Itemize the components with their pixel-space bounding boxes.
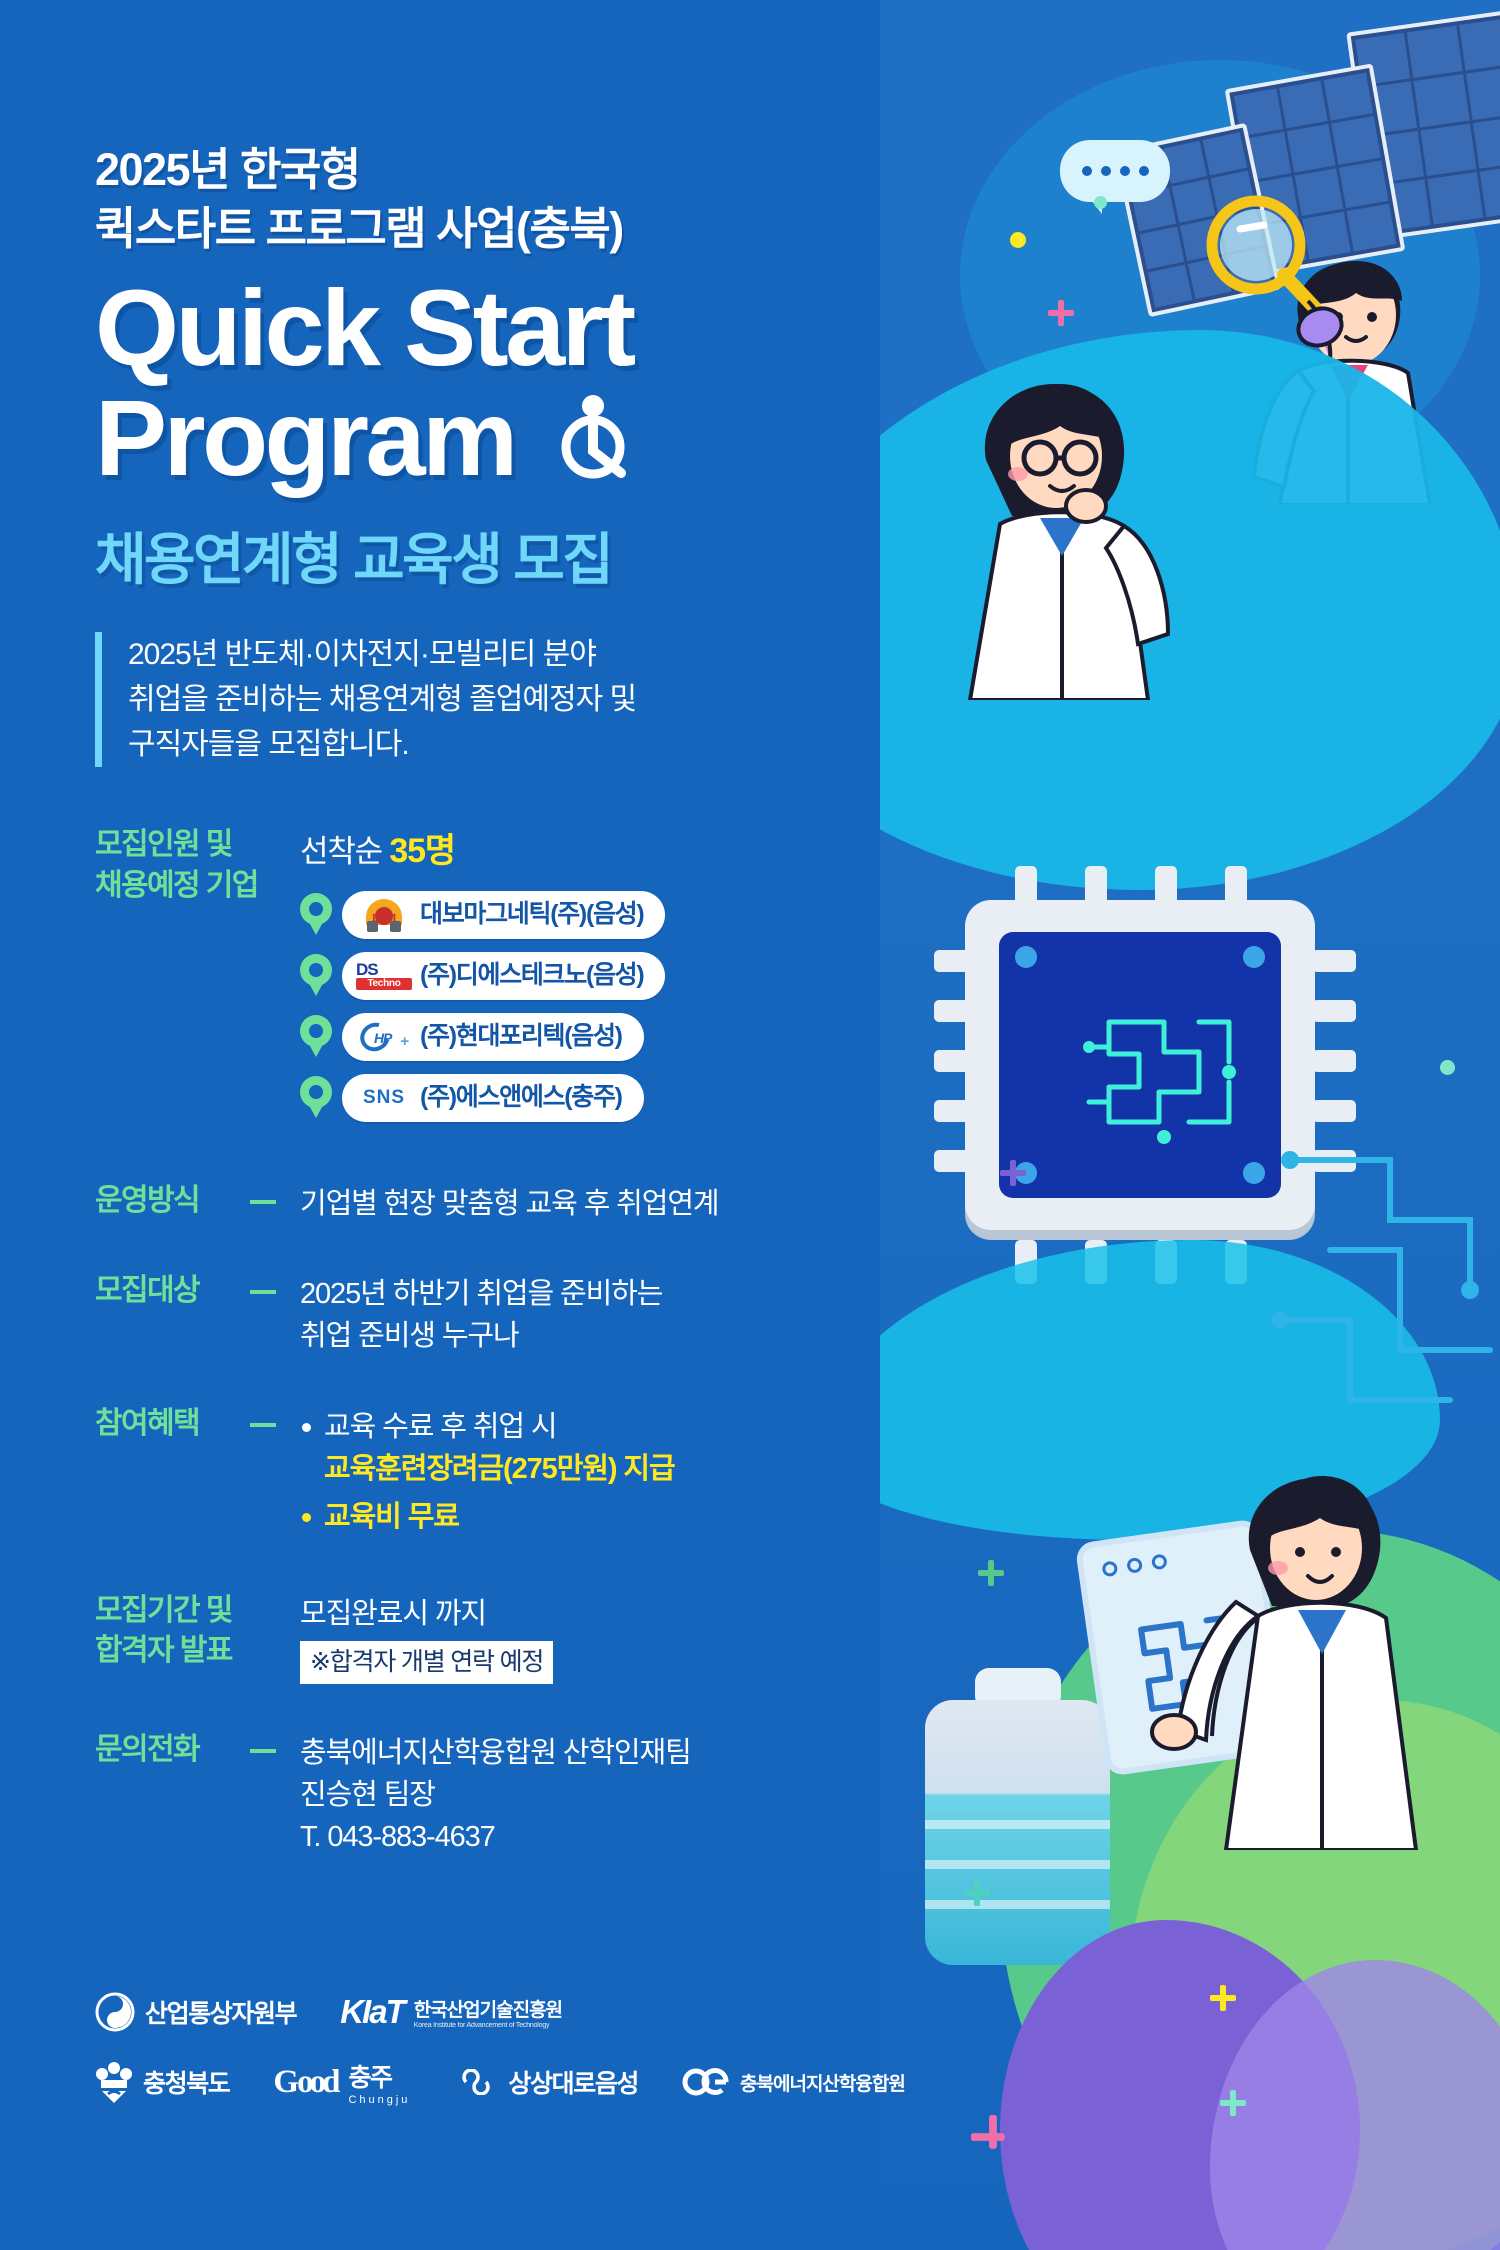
illustration-panel <box>880 0 1500 2250</box>
map-pin-icon <box>300 893 332 937</box>
footer-logo-row-1: 산업통상자원부 KIaT 한국산업기술진흥원 Korea Institute f… <box>95 1992 795 2032</box>
row-body-method: 기업별 현장 맞춤형 교육 후 취업연계 <box>300 1181 900 1225</box>
period-note-badge: ※합격자 개별 연락 예정 <box>300 1641 553 1684</box>
accessibility-wheelchair-icon <box>547 389 639 481</box>
contact-line-2: 진승현 팀장 <box>300 1774 900 1816</box>
contact-line-1: 충북에너지산학융합원 산학인재팀 <box>300 1732 900 1774</box>
row-body-period: 모집완료시 까지 ※합격자 개별 연락 예정 <box>300 1591 900 1684</box>
poster-lede: 2025년 반도체·이차전지·모빌리티 분야 취업을 준비하는 채용연계형 졸업… <box>95 632 900 767</box>
plus-decor-icon <box>1210 1985 1236 2011</box>
person-researcher-thinking <box>900 340 1230 700</box>
row-label-contact: 문의전화 <box>95 1730 300 1859</box>
company-pill: SNS (주)에스앤에스(충주) <box>342 1074 644 1122</box>
plus-decor-icon <box>964 1880 990 1906</box>
chungbuk-flower-icon <box>95 2060 133 2104</box>
company-name: (주)디에스테크노(음성) <box>420 957 643 994</box>
sns-logo-icon: SNS <box>356 1081 412 1115</box>
recruit-count-value: 35명 <box>389 832 455 870</box>
company-pill: DSTechno (주)디에스테크노(음성) <box>342 952 665 1000</box>
plus-decor-icon <box>1000 1160 1026 1186</box>
logo-kiat: KIaT 한국산업기술진흥원 Korea Institute for Advan… <box>340 1993 562 2031</box>
company-pill: DBM 대보마그네틱(주)(음성) <box>342 891 665 939</box>
plus-decor-icon <box>978 1560 1004 1586</box>
title-line-2: Program <box>95 377 515 498</box>
poster-subtitle: 채용연계형 교육생 모집 <box>95 515 900 596</box>
target-line-2: 취업 준비생 누구나 <box>300 1315 900 1357</box>
circuit-trace-graphic <box>1250 1140 1500 1440</box>
company-name: (주)에스앤에스(충주) <box>420 1079 622 1116</box>
period-body: 모집완료시 까지 <box>300 1593 900 1635</box>
row-label-period: 모집기간 및 합격자 발표 <box>95 1591 300 1684</box>
kicker-line-1: 2025년 한국형 <box>95 140 900 199</box>
company-name: 대보마그네틱(주)(음성) <box>420 896 643 933</box>
benefits-list: 교육 수료 후 취업 시 교육훈련장려금(275만원) 지급 교육비 무료 <box>300 1406 900 1539</box>
contact-phone: T. 043-883-4637 <box>300 1816 900 1858</box>
target-line-1: 2025년 하반기 취업을 준비하는 <box>300 1273 900 1315</box>
row-label-recruit: 모집인원 및 채용예정 기업 <box>95 825 300 1135</box>
row-body-contact: 충북에너지산학융합원 산학인재팀 진승현 팀장 T. 043-883-4637 <box>300 1730 900 1859</box>
person-man-with-tablet <box>1130 1430 1470 1850</box>
eumseong-infinity-icon <box>454 2069 498 2095</box>
logo-chungbuk: 충청북도 <box>95 2060 229 2104</box>
info-row-recruit: 모집인원 및 채용예정 기업 선착순 35명 DBM 대보마그네틱(주)(음성) <box>95 825 900 1135</box>
benefit-1-highlight: 교육훈련장려금(275만원) 지급 <box>324 1453 675 1485</box>
logo-eumseong: 상상대로음성 <box>454 2064 638 2100</box>
logo-kiat-label: 한국산업기술진흥원 <box>414 2000 562 2021</box>
row-label-method: 운영방식 <box>95 1181 300 1225</box>
benefit-1-plain: 교육 수료 후 취업 시 <box>324 1411 556 1443</box>
content-column: 2025년 한국형 퀵스타트 프로그램 사업(충북) Quick Start P… <box>0 0 900 2250</box>
motie-taegeuk-icon <box>95 1992 135 2032</box>
info-row-method: 운영방식 기업별 현장 맞춤형 교육 후 취업연계 <box>95 1181 900 1225</box>
row-label-target: 모집대상 <box>95 1271 300 1358</box>
row-body-recruit: 선착순 35명 DBM 대보마그네틱(주)(음성) <box>300 825 900 1135</box>
lede-line-2: 취업을 준비하는 채용연계형 졸업예정자 및 <box>128 677 900 722</box>
info-row-benefits: 참여혜택 교육 수료 후 취업 시 교육훈련장려금(275만원) 지급 교육비 … <box>95 1404 900 1545</box>
plus-decor-icon <box>971 2115 1015 2159</box>
map-pin-icon <box>300 1015 332 1059</box>
footer-logo-row-2: 충청북도 Good 충주 Chungju <box>95 2058 795 2106</box>
lede-line-3: 구직자들을 모집합니다. <box>128 722 900 767</box>
battery-graphic <box>925 1700 1110 1965</box>
company-row: HP+ (주)현대포리텍(음성) <box>300 1013 900 1061</box>
info-rows: 모집인원 및 채용예정 기업 선착순 35명 DBM 대보마그네틱(주)(음성) <box>95 825 900 1858</box>
logo-chungbuk-label: 충청북도 <box>143 2064 229 2100</box>
plus-decor-icon <box>1048 300 1074 326</box>
kicker-line-2: 퀵스타트 프로그램 사업(충북) <box>95 199 900 258</box>
map-pin-icon <box>300 1076 332 1120</box>
recruit-count-prefix: 선착순 <box>300 834 389 869</box>
dot-decor <box>1094 196 1107 209</box>
dot-decor <box>1440 1060 1455 1075</box>
logo-good-chungju-label: 충주 <box>348 2064 391 2092</box>
info-row-period: 모집기간 및 합격자 발표 모집완료시 까지 ※합격자 개별 연락 예정 <box>95 1591 900 1684</box>
company-pill: HP+ (주)현대포리텍(음성) <box>342 1013 644 1061</box>
dot-decor <box>1010 232 1026 248</box>
info-row-contact: 문의전화 충북에너지산학융합원 산학인재팀 진승현 팀장 T. 043-883-… <box>95 1730 900 1859</box>
company-row: SNS (주)에스앤에스(충주) <box>300 1074 900 1122</box>
dbm-logo-icon: DBM <box>356 898 412 932</box>
benefit-item-2: 교육비 무료 <box>300 1496 900 1538</box>
good-chungju-logo-icon: Good <box>273 2064 338 2101</box>
logo-good-chungju-text-block: 충주 Chungju <box>348 2058 410 2106</box>
benefit-item-1: 교육 수료 후 취업 시 교육훈련장려금(275만원) 지급 <box>300 1406 900 1491</box>
logo-oe-energy: 충북에너지산학융합원 <box>682 2067 905 2097</box>
recruit-count-line: 선착순 35명 <box>300 827 900 877</box>
row-body-benefits: 교육 수료 후 취업 시 교육훈련장려금(275만원) 지급 교육비 무료 <box>300 1404 900 1545</box>
logo-motie: 산업통상자원부 <box>95 1992 296 2032</box>
row-body-target: 2025년 하반기 취업을 준비하는 취업 준비생 누구나 <box>300 1271 900 1358</box>
plus-decor-icon <box>1220 2090 1246 2116</box>
logo-eumseong-label: 상상대로음성 <box>508 2064 638 2100</box>
company-row: DSTechno (주)디에스테크노(음성) <box>300 952 900 1000</box>
poster-kicker: 2025년 한국형 퀵스타트 프로그램 사업(충북) <box>95 140 900 259</box>
circuit-brain-icon <box>1069 992 1259 1152</box>
footer-logos: 산업통상자원부 KIaT 한국산업기술진흥원 Korea Institute f… <box>95 1992 795 2132</box>
kiat-wordmark-icon: KIaT <box>340 1993 404 2031</box>
logo-kiat-sublabel: Korea Institute for Advancement of Techn… <box>414 2022 562 2029</box>
row-label-benefits: 참여혜택 <box>95 1404 300 1545</box>
ds-techno-logo-icon: DSTechno <box>356 959 412 993</box>
logo-good-chungju: Good 충주 Chungju <box>273 2058 410 2106</box>
company-name: (주)현대포리텍(음성) <box>420 1018 622 1055</box>
logo-good-chungju-sublabel: Chungju <box>348 2094 410 2106</box>
company-row: DBM 대보마그네틱(주)(음성) <box>300 891 900 939</box>
logo-oe-label: 충북에너지산학융합원 <box>740 2069 905 2096</box>
chat-bubble-icon <box>1060 140 1170 202</box>
lede-line-1: 2025년 반도체·이차전지·모빌리티 분야 <box>128 632 900 677</box>
hp-plus-logo-icon: HP+ <box>356 1020 412 1054</box>
map-pin-icon <box>300 954 332 998</box>
info-row-target: 모집대상 2025년 하반기 취업을 준비하는 취업 준비생 누구나 <box>95 1271 900 1358</box>
logo-motie-label: 산업통상자원부 <box>145 1994 296 2030</box>
poster-root: 2025년 한국형 퀵스타트 프로그램 사업(충북) Quick Start P… <box>0 0 1500 2250</box>
oe-logo-icon <box>682 2067 730 2097</box>
poster-main-title: Quick Start Program <box>95 273 900 493</box>
benefit-2-highlight: 교육비 무료 <box>324 1501 459 1533</box>
logo-kiat-text-block: 한국산업기술진흥원 Korea Institute for Advancemen… <box>414 1995 562 2029</box>
title-line-1: Quick Start <box>95 267 633 388</box>
